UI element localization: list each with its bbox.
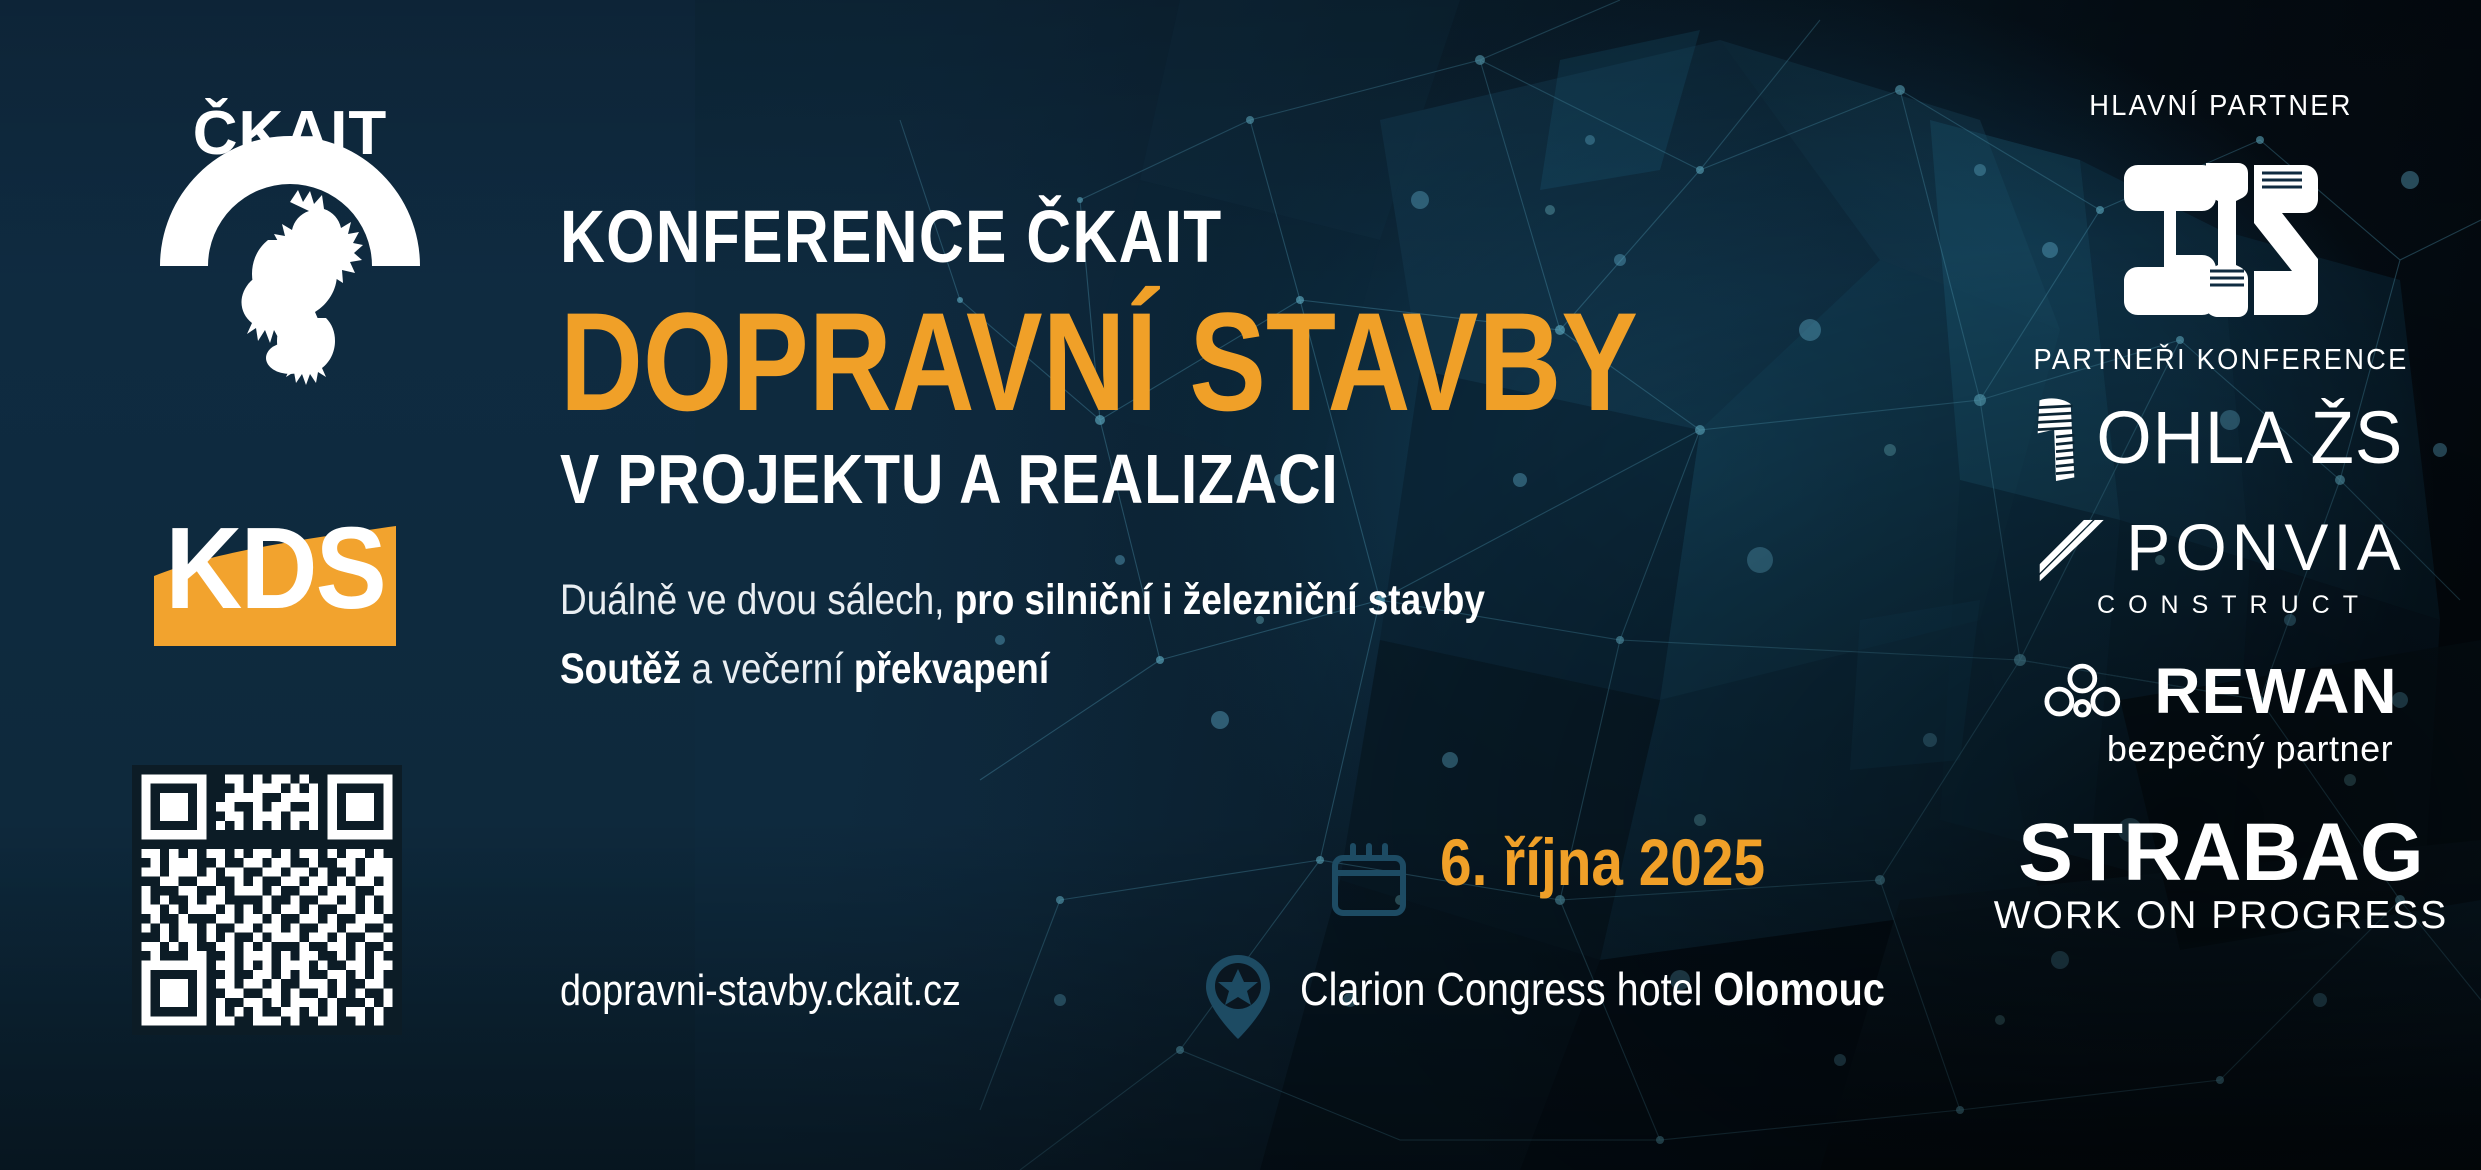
- tagline-line-2: Soutěž a večerní překvapení: [560, 635, 1575, 705]
- kds-logo[interactable]: KDS: [150, 480, 400, 660]
- ponvia-subtitle: CONSTRUCT: [1987, 591, 2481, 620]
- partner-logo-strabag[interactable]: STRABAG WORK ON PROGRESS: [1961, 806, 2481, 938]
- main-partner-logo[interactable]: [1961, 149, 2481, 344]
- footer-row: dopravni-stavby.ckait.cz Clarion Congres…: [560, 960, 1960, 1050]
- conference-subhead: V PROJEKTU A REALIZACI: [560, 444, 1551, 514]
- ohla-zs-wordmark: OHLA ŽS: [2097, 395, 2404, 480]
- strabag-subtitle: WORK ON PROGRESS: [1961, 894, 2481, 938]
- partner-column: HLAVNÍ PARTNER: [1961, 90, 2481, 1120]
- left-logo-column: ČKAIT KDS: [120, 80, 480, 1090]
- czech-lion-icon: [241, 190, 363, 385]
- calendar-icon: [1330, 840, 1408, 918]
- rewan-wordmark: REWAN: [2154, 654, 2397, 728]
- strabag-wordmark: STRABAG: [1961, 806, 2481, 900]
- partner-logo-ponvia[interactable]: PONVIA CONSTRUCT: [1961, 509, 2481, 620]
- tagline-1-bold: pro silniční i železniční stavby: [955, 576, 1485, 624]
- tagline-line-1: Duálně ve dvou sálech, pro silniční i že…: [560, 566, 1575, 636]
- event-date: 6. října 2025: [1440, 824, 1765, 900]
- ponvia-wordmark: PONVIA: [2126, 509, 2405, 585]
- sz-rail-profile-logo: [2106, 149, 2336, 339]
- qr-code[interactable]: [132, 765, 402, 1035]
- venue-city: Olomouc: [1713, 963, 1884, 1015]
- conference-headline: DOPRAVNÍ STAVBY: [560, 296, 1528, 428]
- tagline-2-plain: a večerní: [681, 645, 854, 693]
- rewan-subtitle: bezpečný partner: [2019, 728, 2481, 770]
- conference-kicker: KONFERENCE ČKAIT: [560, 200, 1551, 274]
- partners-label: PARTNEŘI KONFERENCE: [1977, 344, 2466, 377]
- kds-wordmark: KDS: [165, 503, 385, 633]
- tagline-2-bold-a: Soutěž: [560, 645, 681, 693]
- event-website-link[interactable]: dopravni-stavby.ckait.cz: [560, 966, 961, 1016]
- ohla-building-icon: [2032, 393, 2080, 481]
- conference-banner: ČKAIT KDS: [0, 0, 2481, 1170]
- tagline-block: Duálně ve dvou sálech, pro silniční i že…: [560, 566, 1575, 705]
- headline-block: KONFERENCE ČKAIT DOPRAVNÍ STAVBY V PROJE…: [560, 200, 1740, 705]
- tagline-1-plain: Duálně ve dvou sálech,: [560, 576, 955, 624]
- map-pin-star-icon: [1200, 952, 1276, 1042]
- tagline-2-bold-b: překvapení: [854, 645, 1049, 693]
- ponvia-diagonal-stripes-icon: [2036, 509, 2112, 585]
- rewan-circles-icon: [2044, 661, 2136, 721]
- partner-logo-ohla-zs[interactable]: OHLA ŽS: [1961, 393, 2481, 481]
- partner-logo-rewan[interactable]: REWAN bezpečný partner: [1961, 654, 2481, 770]
- venue-text: Clarion Congress hotel Olomouc: [1300, 962, 1885, 1016]
- main-partner-label: HLAVNÍ PARTNER: [1977, 90, 2466, 123]
- venue-plain: Clarion Congress hotel: [1300, 963, 1713, 1015]
- ckait-logo[interactable]: ČKAIT: [140, 90, 440, 390]
